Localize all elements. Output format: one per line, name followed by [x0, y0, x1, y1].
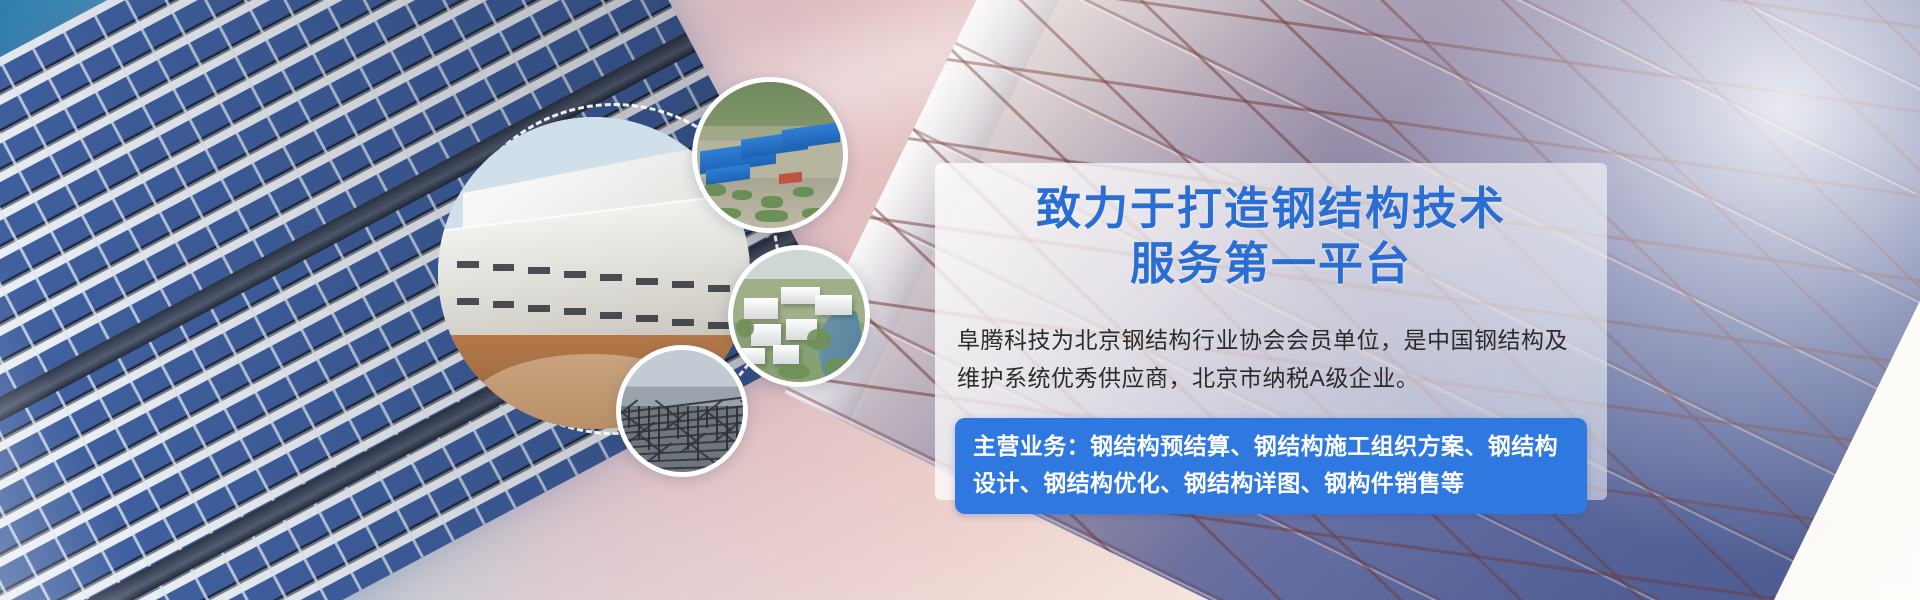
factory-window: [457, 298, 479, 305]
truss-chord: [616, 465, 748, 471]
park-green-patch: [761, 196, 783, 208]
campus-block: [744, 298, 778, 319]
truss-post: [726, 406, 728, 450]
park-treeline: [697, 82, 843, 126]
banner-content: 致力于打造钢结构技术 服务第一平台 阜腾科技为北京钢结构行业协会会员单位，是中国…: [935, 163, 1607, 500]
factory-window: [708, 322, 730, 329]
campus-block: [751, 324, 780, 346]
park-green-patch: [732, 190, 752, 200]
campus-lawn: [778, 364, 810, 380]
campus-lawn: [825, 358, 854, 376]
truss-post: [667, 406, 669, 428]
factory-window: [600, 274, 622, 281]
steel-truss-photo: [616, 345, 748, 477]
truss-diagonal: [671, 421, 697, 442]
park-green-patch: [793, 187, 813, 197]
factory-window: [600, 312, 622, 319]
campus-block: [741, 348, 765, 364]
factory-window: [564, 308, 586, 315]
park-blue-roof: [782, 122, 840, 151]
park-green-patch: [755, 210, 787, 222]
truss-diagonal: [620, 410, 646, 431]
description-text: 阜腾科技为北京钢结构行业协会会员单位，是中国钢结构及维护系统优秀供应商，北京市纳…: [957, 321, 1587, 397]
truss-post: [716, 406, 718, 439]
park-green-patch: [802, 208, 828, 220]
headline-line-1: 致力于打造钢结构技术: [935, 163, 1607, 236]
headline: 致力于打造钢结构技术 服务第一平台: [935, 163, 1607, 291]
headline-line-2: 服务第一平台: [935, 236, 1607, 291]
truss-post: [687, 406, 689, 450]
factory-window: [636, 278, 658, 285]
campus-aerial-photo: [728, 245, 870, 387]
factory-window: [493, 301, 515, 308]
factory-window: [528, 305, 550, 312]
main-business-badge: 主营业务：钢结构预结算、钢结构施工组织方案、钢结构设计、钢结构优化、钢结构详图、…: [955, 418, 1587, 514]
factory-window: [708, 285, 730, 292]
truss-post: [706, 406, 708, 428]
truss-post: [736, 406, 738, 461]
park-green-patch: [703, 184, 726, 196]
truss-diagonal: [740, 399, 748, 420]
truss-post: [697, 406, 699, 461]
industrial-park-aerial-photo: [692, 77, 848, 233]
truss-post: [638, 406, 640, 439]
factory-window: [528, 267, 550, 274]
factory-window: [672, 319, 694, 326]
park-green-patch: [712, 208, 741, 220]
campus-lawn: [807, 329, 831, 350]
truss-post: [628, 406, 630, 428]
campus-lawn: [736, 319, 754, 337]
hero-banner: 致力于打造钢结构技术 服务第一平台 阜腾科技为北京钢结构行业协会会员单位，是中国…: [0, 0, 1920, 600]
campus-block: [773, 345, 799, 363]
truss-chord: [616, 456, 748, 464]
factory-window: [564, 271, 586, 278]
factory-window: [672, 281, 694, 288]
factory-window: [493, 264, 515, 271]
park-court: [779, 171, 802, 184]
truss-diagonal: [688, 443, 714, 464]
factory-window: [636, 315, 658, 322]
truss-post: [648, 406, 650, 450]
photo-collage: [420, 55, 890, 525]
campus-block: [815, 295, 852, 315]
factory-window: [457, 261, 479, 268]
truss-post: [677, 406, 679, 439]
truss-post: [658, 406, 660, 461]
